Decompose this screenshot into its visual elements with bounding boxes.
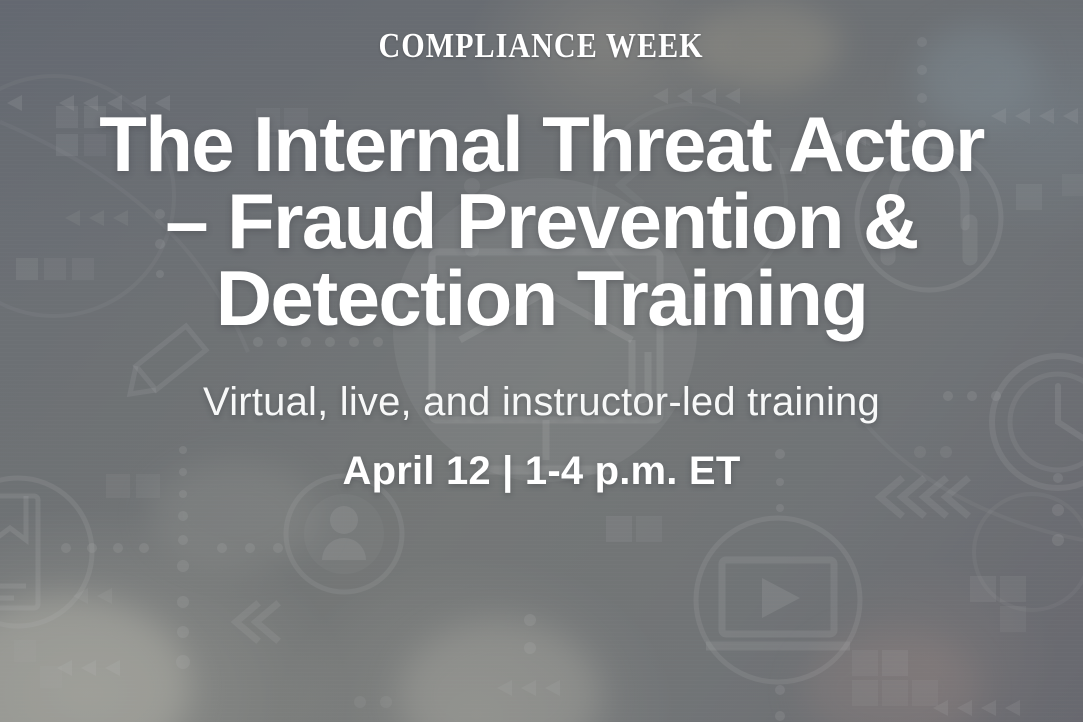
page-title: The Internal Threat Actor – Fraud Preven… — [22, 106, 1062, 338]
title-line-1: The Internal Threat Actor — [22, 106, 1062, 183]
event-promo-banner: COMPLIANCE WEEK The Internal Threat Acto… — [0, 0, 1083, 722]
title-line-2: – Fraud Prevention & — [22, 183, 1062, 260]
title-line-3: Detection Training — [22, 260, 1062, 337]
event-format-subtitle: Virtual, live, and instructor-led traini… — [203, 380, 880, 425]
banner-content: COMPLIANCE WEEK The Internal Threat Acto… — [0, 0, 1083, 722]
event-datetime: April 12 | 1-4 p.m. ET — [343, 449, 741, 494]
compliance-week-logo: COMPLIANCE WEEK — [379, 26, 704, 66]
